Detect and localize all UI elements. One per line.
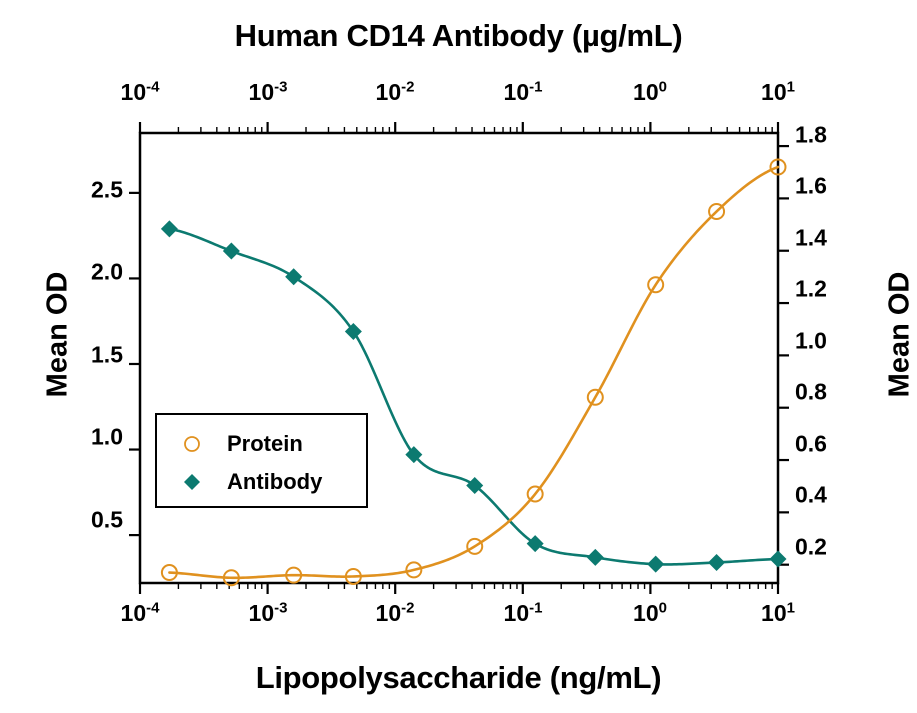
open-circle-icon [157, 433, 227, 455]
curve-protein [169, 167, 778, 578]
axis-ticks [129, 122, 789, 594]
data-point-antibody [223, 243, 240, 260]
data-point-antibody [527, 535, 544, 552]
data-point-antibody [587, 549, 604, 566]
data-point-antibody [647, 556, 664, 573]
legend: Protein Antibody [155, 413, 368, 508]
data-point-antibody [285, 268, 302, 285]
data-points [161, 160, 787, 586]
plot-frame [140, 133, 778, 583]
data-point-antibody [345, 323, 362, 340]
legend-label-antibody: Antibody [227, 469, 322, 495]
plot-area [0, 0, 917, 713]
legend-label-protein: Protein [227, 431, 303, 457]
data-point-antibody [161, 220, 178, 237]
filled-diamond-icon [157, 471, 227, 493]
data-point-antibody [708, 554, 725, 571]
figure-container: Human CD14 Antibody (µg/mL) Mean OD Mean… [0, 0, 917, 713]
fitted-curves [169, 167, 778, 578]
curve-antibody [169, 229, 778, 565]
legend-entry-protein: Protein [157, 425, 370, 463]
legend-entry-antibody: Antibody [157, 463, 370, 501]
